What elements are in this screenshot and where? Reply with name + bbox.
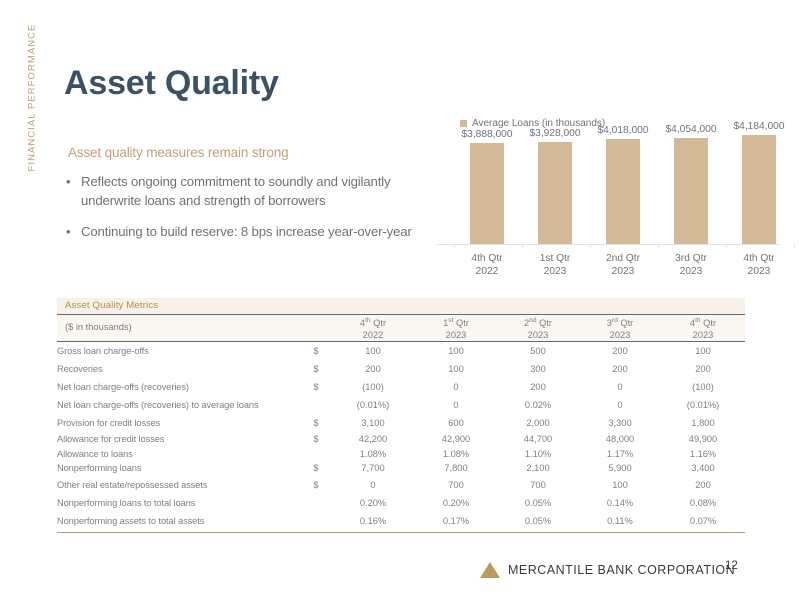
table-cell-value: (100) bbox=[661, 378, 745, 396]
chart-x-axis bbox=[436, 244, 780, 245]
table-cell-value: 0 bbox=[579, 396, 661, 414]
table-cell-value: 2,000 bbox=[497, 414, 579, 432]
table-cell-value: 1.10% bbox=[497, 447, 579, 462]
axis-category-line: 2023 bbox=[658, 265, 724, 278]
bar bbox=[606, 139, 640, 244]
table-col-header-units: ($ in thousands) bbox=[57, 315, 301, 342]
table-cell-value: 49,900 bbox=[661, 432, 745, 447]
bullet-list: Reflects ongoing commitment to soundly a… bbox=[64, 172, 420, 253]
table-cell-value: 1.08% bbox=[415, 447, 497, 462]
table-cell-value: 200 bbox=[661, 360, 745, 378]
table-cell-currency bbox=[301, 494, 331, 512]
table-cell-value: 1.08% bbox=[331, 447, 415, 462]
footer-brand: MERCANTILE BANK CORPORATION bbox=[480, 562, 735, 578]
axis-category-line: 2023 bbox=[726, 265, 792, 278]
table-cell-value: 100 bbox=[415, 342, 497, 361]
table-col-header-currency bbox=[301, 315, 331, 342]
table-col-header-line2: 2023 bbox=[579, 330, 661, 342]
table-cell-currency: $ bbox=[301, 461, 331, 476]
table-col-header-line1: 2nd Qtr bbox=[497, 315, 579, 330]
bar-value-label: $4,184,000 bbox=[716, 121, 800, 132]
table-row: Gross loan charge-offs$100100500200100 bbox=[57, 342, 745, 361]
table-cell-value: 0 bbox=[579, 378, 661, 396]
table-col-header-quarter: 4th Qtr2023 bbox=[661, 315, 745, 342]
table-cell-label: Recoveries bbox=[57, 360, 301, 378]
table-cell-value: 7,800 bbox=[415, 461, 497, 476]
table-cell-value: 0.17% bbox=[415, 512, 497, 530]
bar bbox=[742, 135, 776, 244]
table-head: ($ in thousands)4th Qtr20221st Qtr20232n… bbox=[57, 315, 745, 342]
table-cell-value: 0.05% bbox=[497, 512, 579, 530]
table-cell-value: 100 bbox=[415, 360, 497, 378]
table-cell-value: 0.14% bbox=[579, 494, 661, 512]
table-row: Allowance for credit losses$42,20042,900… bbox=[57, 432, 745, 447]
table-cell-value: 1.17% bbox=[579, 447, 661, 462]
table-col-header-line1: 4th Qtr bbox=[661, 315, 745, 330]
table-cell-label: Provision for credit losses bbox=[57, 414, 301, 432]
table-cell-value: 3,400 bbox=[661, 461, 745, 476]
chart-plot-area: $3,888,000$3,928,000$4,018,000$4,054,000… bbox=[430, 132, 790, 244]
legend-swatch-icon bbox=[460, 120, 467, 127]
table-cell-value: 0 bbox=[415, 396, 497, 414]
table-col-header-line1: 1st Qtr bbox=[415, 315, 497, 330]
table-cell-value: 200 bbox=[579, 342, 661, 361]
axis-category-line: 1st Qtr bbox=[522, 252, 588, 265]
table-body: Gross loan charge-offs$100100500200100Re… bbox=[57, 342, 745, 530]
table-cell-value: 0.07% bbox=[661, 512, 745, 530]
table-cell-value: 0 bbox=[415, 378, 497, 396]
table-cell-label: Net loan charge-offs (recoveries) bbox=[57, 378, 301, 396]
table-cell-value: 500 bbox=[497, 342, 579, 361]
axis-tick bbox=[522, 244, 523, 249]
section-rail: FINANCIAL PERFORMANCE bbox=[14, 20, 40, 220]
table-row: Allowance to loans1.08%1.08%1.10%1.17%1.… bbox=[57, 447, 745, 462]
table-cell-value: (100) bbox=[331, 378, 415, 396]
table-cell-currency bbox=[301, 396, 331, 414]
axis-tick bbox=[794, 244, 795, 249]
table-row: Net loan charge-offs (recoveries)$(100)0… bbox=[57, 378, 745, 396]
table-cell-label: Nonperforming loans bbox=[57, 461, 301, 476]
table-cell-currency: $ bbox=[301, 432, 331, 447]
table-cell-label: Gross loan charge-offs bbox=[57, 342, 301, 361]
metrics-table: ($ in thousands)4th Qtr20221st Qtr20232n… bbox=[57, 314, 745, 530]
bar-column: $4,184,000 bbox=[726, 132, 792, 244]
table-cell-value: 1,800 bbox=[661, 414, 745, 432]
table-cell-value: 42,900 bbox=[415, 432, 497, 447]
table-cell-value: 200 bbox=[497, 378, 579, 396]
table-cell-value: 48,000 bbox=[579, 432, 661, 447]
table-row: Net loan charge-offs (recoveries) to ave… bbox=[57, 396, 745, 414]
list-item: Continuing to build reserve: 8 bps incre… bbox=[64, 222, 420, 241]
table-cell-value: 0.08% bbox=[661, 494, 745, 512]
table-cell-value: 0.02% bbox=[497, 396, 579, 414]
table-row: Nonperforming loans$7,7007,8002,1005,900… bbox=[57, 461, 745, 476]
asset-quality-table: Asset Quality Metrics ($ in thousands)4t… bbox=[57, 298, 745, 533]
section-rail-label: FINANCIAL PERFORMANCE bbox=[27, 18, 38, 178]
table-col-header-line1: 4th Qtr bbox=[331, 315, 415, 330]
table-cell-currency: $ bbox=[301, 360, 331, 378]
axis-category-line: 4th Qtr bbox=[454, 252, 520, 265]
table-col-header-line1: 3rd Qtr bbox=[579, 315, 661, 330]
axis-category-label: 3rd Qtr2023 bbox=[658, 252, 724, 278]
table-cell-value: 100 bbox=[331, 342, 415, 361]
table-cell-value: (0.01%) bbox=[331, 396, 415, 414]
table-cell-value: 0 bbox=[331, 476, 415, 494]
average-loans-bar-chart: Average Loans (in thousands) $3,888,000$… bbox=[430, 118, 790, 288]
table-cell-value: 0.11% bbox=[579, 512, 661, 530]
table-band-title: Asset Quality Metrics bbox=[57, 298, 745, 314]
table-cell-label: Nonperforming assets to total assets bbox=[57, 512, 301, 530]
table-cell-value: 2,100 bbox=[497, 461, 579, 476]
bar-column: $4,054,000 bbox=[658, 132, 724, 244]
subheading: Asset quality measures remain strong bbox=[68, 145, 288, 160]
list-item: Reflects ongoing commitment to soundly a… bbox=[64, 172, 420, 210]
table-row: Recoveries$200100300200200 bbox=[57, 360, 745, 378]
table-cell-label: Allowance for credit losses bbox=[57, 432, 301, 447]
bar-column: $3,928,000 bbox=[522, 132, 588, 244]
axis-category-label: 1st Qtr2023 bbox=[522, 252, 588, 278]
bar-column: $3,888,000 bbox=[454, 132, 520, 244]
table-cell-value: (0.01%) bbox=[661, 396, 745, 414]
table-cell-currency: $ bbox=[301, 378, 331, 396]
page-number: 12 bbox=[725, 560, 738, 572]
triangle-logo-icon bbox=[480, 562, 500, 578]
axis-category-line: 2023 bbox=[522, 265, 588, 278]
bar-column: $4,018,000 bbox=[590, 132, 656, 244]
table-row: Nonperforming loans to total loans0.20%0… bbox=[57, 494, 745, 512]
table-cell-value: 3,100 bbox=[331, 414, 415, 432]
table-cell-value: 42,200 bbox=[331, 432, 415, 447]
table-col-header-quarter: 2nd Qtr2023 bbox=[497, 315, 579, 342]
table-cell-value: 100 bbox=[661, 342, 745, 361]
table-col-header-line2: 2023 bbox=[415, 330, 497, 342]
table-cell-value: 300 bbox=[497, 360, 579, 378]
page-title: Asset Quality bbox=[64, 64, 279, 103]
table-cell-value: 0.20% bbox=[415, 494, 497, 512]
table-cell-value: 200 bbox=[579, 360, 661, 378]
axis-category-line: 2022 bbox=[454, 265, 520, 278]
axis-category-line: 4th Qtr bbox=[726, 252, 792, 265]
table-col-header-line2: 2023 bbox=[661, 330, 745, 342]
axis-tick bbox=[658, 244, 659, 249]
table-cell-value: 600 bbox=[415, 414, 497, 432]
slide-canvas: FINANCIAL PERFORMANCE Asset Quality Asse… bbox=[0, 0, 800, 600]
axis-tick bbox=[454, 244, 455, 249]
table-cell-currency bbox=[301, 447, 331, 462]
table-col-header-line2: 2022 bbox=[331, 330, 415, 342]
table-cell-value: 0.05% bbox=[497, 494, 579, 512]
table-col-header-quarter: 1st Qtr2023 bbox=[415, 315, 497, 342]
axis-category-line: 2nd Qtr bbox=[590, 252, 656, 265]
table-cell-label: Nonperforming loans to total loans bbox=[57, 494, 301, 512]
table-cell-currency bbox=[301, 512, 331, 530]
axis-category-line: 3rd Qtr bbox=[658, 252, 724, 265]
table-cell-label: Net loan charge-offs (recoveries) to ave… bbox=[57, 396, 301, 414]
table-bottom-rule bbox=[57, 532, 745, 534]
table-cell-currency: $ bbox=[301, 342, 331, 361]
table-cell-value: 200 bbox=[331, 360, 415, 378]
axis-tick bbox=[726, 244, 727, 249]
table-cell-label: Allowance to loans bbox=[57, 447, 301, 462]
table-cell-label: Other real estate/repossessed assets bbox=[57, 476, 301, 494]
table-cell-value: 100 bbox=[579, 476, 661, 494]
table-header-row: ($ in thousands)4th Qtr20221st Qtr20232n… bbox=[57, 315, 745, 342]
bar bbox=[538, 142, 572, 244]
table-cell-value: 1.16% bbox=[661, 447, 745, 462]
table-cell-value: 44,700 bbox=[497, 432, 579, 447]
brand-name: MERCANTILE BANK CORPORATION bbox=[508, 563, 735, 577]
table-col-header-line2: 2023 bbox=[497, 330, 579, 342]
table-col-header-quarter: 4th Qtr2022 bbox=[331, 315, 415, 342]
bar bbox=[674, 138, 708, 244]
bar bbox=[470, 143, 504, 244]
axis-tick bbox=[590, 244, 591, 249]
axis-category-label: 2nd Qtr2023 bbox=[590, 252, 656, 278]
axis-category-label: 4th Qtr2023 bbox=[726, 252, 792, 278]
table-row: Provision for credit losses$3,1006002,00… bbox=[57, 414, 745, 432]
table-col-header-quarter: 3rd Qtr2023 bbox=[579, 315, 661, 342]
table-row: Other real estate/repossessed assets$070… bbox=[57, 476, 745, 494]
axis-category-line: 2023 bbox=[590, 265, 656, 278]
table-cell-value: 7,700 bbox=[331, 461, 415, 476]
axis-category-label: 4th Qtr2022 bbox=[454, 252, 520, 278]
table-cell-value: 200 bbox=[661, 476, 745, 494]
table-cell-currency: $ bbox=[301, 476, 331, 494]
table-cell-value: 700 bbox=[497, 476, 579, 494]
table-row: Nonperforming assets to total assets0.16… bbox=[57, 512, 745, 530]
table-cell-currency: $ bbox=[301, 414, 331, 432]
table-cell-value: 700 bbox=[415, 476, 497, 494]
table-cell-value: 0.20% bbox=[331, 494, 415, 512]
table-cell-value: 3,300 bbox=[579, 414, 661, 432]
table-cell-value: 5,900 bbox=[579, 461, 661, 476]
table-cell-value: 0.16% bbox=[331, 512, 415, 530]
